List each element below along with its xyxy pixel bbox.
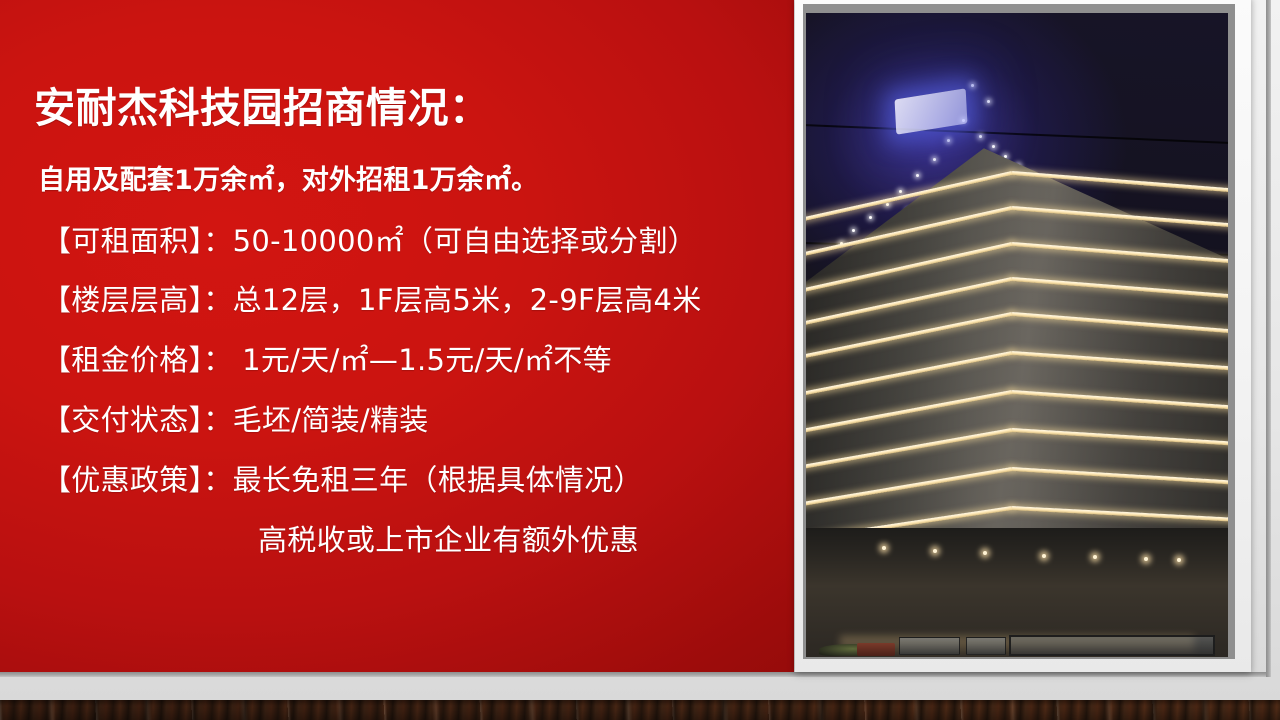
slide-canvas: 安耐杰科技园招商情况： 自用及配套1万余㎡，对外招租1万余㎡。 【可租面积】：5… (0, 0, 1280, 720)
bullet-rentable-area: 【可租面积】：50-10000㎡（可自由选择或分割） (42, 218, 697, 260)
photo-frame (795, 0, 1251, 672)
bullet-incentive-policy: 【优惠政策】：最长免租三年（根据具体情况） (42, 457, 643, 499)
subtitle: 自用及配套1万余㎡，对外招租1万余㎡。 (38, 158, 538, 197)
bullet-rent-price: 【租金价格】： 1元/天/㎡—1.5元/天/㎡不等 (42, 337, 612, 379)
building-podium (806, 528, 1228, 657)
text-content-block: 安耐杰科技园招商情况： 自用及配套1万余㎡，对外招租1万余㎡。 【可租面积】：5… (0, 0, 794, 672)
parked-cart (857, 643, 895, 656)
entrance-canopy (1009, 635, 1216, 656)
lobby-glass-mid (966, 637, 1006, 655)
lobby-glass-left (899, 637, 960, 655)
bullet-floor-height: 【楼层层高】：总12层，1F层高5米，2-9F层高4米 (42, 277, 702, 319)
building-night-photo (806, 13, 1228, 657)
mat-bottom-rule (0, 672, 1270, 677)
bullet-delivery-status: 【交付状态】：毛坯/简装/精装 (42, 397, 429, 439)
mat-right-rule (1266, 0, 1271, 677)
page-title: 安耐杰科技园招商情况： (34, 87, 491, 130)
bullet-incentive-policy-continued: 高税收或上市企业有额外优惠 (258, 517, 639, 559)
